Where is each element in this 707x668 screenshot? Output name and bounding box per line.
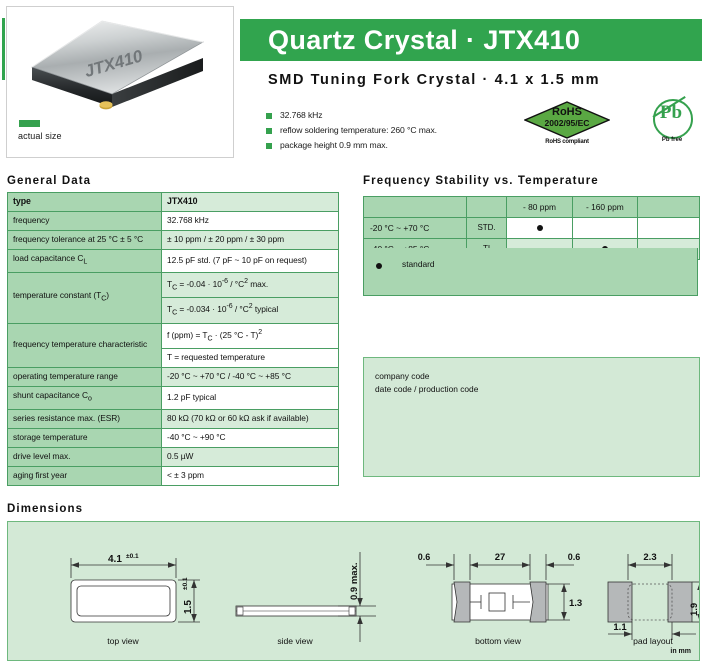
- left-accent-bar: [2, 18, 5, 80]
- product-photo-panel: JTX410 actual size: [6, 6, 234, 158]
- column-header-spare: [638, 197, 700, 218]
- row-key: frequency temperature characteristic: [8, 323, 162, 367]
- table-row: type JTX410: [8, 193, 339, 212]
- bullet-square-icon: [266, 143, 272, 149]
- datasheet-page: JTX410 actual size Quartz Crystal · JTX4…: [0, 0, 707, 668]
- row-key: shunt capacitance Co: [8, 387, 162, 410]
- general-data-heading: General Data: [7, 175, 91, 187]
- view-caption-top: top view: [68, 636, 178, 646]
- svg-text:1.5: 1.5: [183, 600, 194, 614]
- crystal-photo: JTX410: [7, 7, 235, 123]
- row-key: type: [8, 193, 162, 212]
- list-item: 32.768 kHz: [266, 110, 516, 123]
- rohs-line2: 2002/95/EC: [524, 118, 610, 128]
- general-data-table: type JTX410 frequency 32.768 kHz frequen…: [7, 192, 339, 486]
- svg-text:0.6: 0.6: [418, 552, 431, 562]
- row-value: < ± 3 ppm: [162, 466, 339, 485]
- marking-code-box: company code date code / production code: [363, 357, 700, 477]
- legend-dot-icon: [376, 263, 382, 269]
- actual-size-swatch: [19, 120, 40, 127]
- row-value: -20 °C ~ +70 °C / -40 °C ~ +85 °C: [162, 368, 339, 387]
- column-header-160ppm: - 160 ppm: [572, 197, 637, 218]
- mark-cell: [572, 218, 637, 239]
- table-row: - 80 ppm - 160 ppm: [364, 197, 700, 218]
- table-row: frequency temperature characteristic f (…: [8, 323, 339, 348]
- svg-text:1.1: 1.1: [613, 622, 627, 633]
- table-row: aging first year < ± 3 ppm: [8, 466, 339, 485]
- actual-size-caption: actual size: [18, 131, 62, 141]
- view-caption-pad: pad layout: [598, 636, 707, 646]
- row-key: temperature constant (TC): [8, 272, 162, 323]
- view-caption-side: side view: [240, 636, 350, 646]
- table-row: frequency 32.768 kHz: [8, 212, 339, 231]
- bullet-text: 32.768 kHz: [280, 110, 322, 120]
- svg-text:27: 27: [495, 552, 506, 563]
- row-value: -40 °C ~ +90 °C: [162, 428, 339, 447]
- standard-dot-icon: [537, 225, 543, 231]
- mark-cell: [638, 218, 700, 239]
- svg-text:4.1: 4.1: [108, 554, 122, 565]
- page-subtitle: SMD Tuning Fork Crystal · 4.1 x 1.5 mm: [268, 72, 600, 88]
- row-value: 0.5 µW: [162, 447, 339, 466]
- pb-free-logo: Pb Pb free: [648, 99, 696, 147]
- title-bar: Quartz Crystal · JTX410: [240, 19, 702, 61]
- svg-text:±0.1: ±0.1: [126, 553, 139, 560]
- row-value: ± 10 ppm / ± 20 ppm / ± 30 ppm: [162, 231, 339, 250]
- frequency-stability-legend: standard: [363, 248, 698, 296]
- date-code-label: date code / production code: [375, 384, 478, 394]
- svg-text:0.6: 0.6: [568, 552, 581, 562]
- row-value: T = requested temperature: [162, 349, 339, 368]
- row-value: TC = -0.034 · 10-6 / °C2 typical: [162, 298, 339, 323]
- rohs-line1: RoHS: [524, 106, 610, 118]
- bullet-text: reflow soldering temperature: 260 °C max…: [280, 125, 437, 135]
- svg-text:0.9 max.: 0.9 max.: [349, 563, 360, 601]
- dimensions-heading: Dimensions: [7, 503, 83, 515]
- list-item: reflow soldering temperature: 260 °C max…: [266, 125, 516, 138]
- table-row: operating temperature range -20 °C ~ +70…: [8, 368, 339, 387]
- feature-bullet-list: 32.768 kHz reflow soldering temperature:…: [266, 110, 516, 155]
- frequency-stability-heading: Frequency Stability vs. Temperature: [363, 175, 599, 187]
- row-key: frequency tolerance at 25 °C ± 5 °C: [8, 231, 162, 250]
- row-key: series resistance max. (ESR): [8, 409, 162, 428]
- mark-cell: [507, 218, 572, 239]
- company-code-label: company code: [375, 371, 429, 381]
- grade-label: STD.: [466, 218, 507, 239]
- row-value: 1.2 pF typical: [162, 387, 339, 410]
- row-key: operating temperature range: [8, 368, 162, 387]
- svg-text:1.9: 1.9: [689, 603, 699, 616]
- row-value: TC = -0.04 · 10-6 / °C2 max.: [162, 272, 339, 297]
- column-header-empty2: [466, 197, 507, 218]
- row-key: aging first year: [8, 466, 162, 485]
- table-row: storage temperature -40 °C ~ +90 °C: [8, 428, 339, 447]
- row-value: 80 kΩ (70 kΩ or 60 kΩ ask if available): [162, 409, 339, 428]
- bullet-square-icon: [266, 113, 272, 119]
- temp-range: -20 °C ~ +70 °C: [364, 218, 467, 239]
- row-key: frequency: [8, 212, 162, 231]
- pb-free-caption: Pb free: [646, 137, 698, 143]
- column-header-80ppm: - 80 ppm: [507, 197, 572, 218]
- table-row: shunt capacitance Co 1.2 pF typical: [8, 387, 339, 410]
- legend-label: standard: [402, 259, 435, 269]
- svg-text:±0.1: ±0.1: [182, 577, 189, 590]
- row-value: 12.5 pF std. (7 pF ~ 10 pF on request): [162, 250, 339, 273]
- bullet-square-icon: [266, 128, 272, 134]
- unit-note: in mm: [670, 648, 691, 655]
- svg-text:1.3: 1.3: [569, 598, 582, 609]
- dimensions-panel: 4.1 ±0.1 1.5 ±0.1: [7, 521, 700, 661]
- table-row: series resistance max. (ESR) 80 kΩ (70 k…: [8, 409, 339, 428]
- row-key: load capacitance CL: [8, 250, 162, 273]
- list-item: package height 0.9 mm max.: [266, 140, 516, 153]
- rohs-logo: RoHS 2002/95/EC RoHS compliant: [524, 101, 610, 145]
- svg-text:2.3: 2.3: [643, 552, 656, 563]
- row-key: storage temperature: [8, 428, 162, 447]
- row-value: JTX410: [162, 193, 339, 212]
- rohs-caption: RoHS compliant: [524, 139, 610, 145]
- table-row: load capacitance CL 12.5 pF std. (7 pF ~…: [8, 250, 339, 273]
- table-row: drive level max. 0.5 µW: [8, 447, 339, 466]
- bullet-text: package height 0.9 mm max.: [280, 140, 388, 150]
- table-row: frequency tolerance at 25 °C ± 5 °C ± 10…: [8, 231, 339, 250]
- view-caption-bottom: bottom view: [443, 636, 553, 646]
- column-header-empty: [364, 197, 467, 218]
- page-title: Quartz Crystal · JTX410: [268, 25, 580, 56]
- table-row: temperature constant (TC) TC = -0.04 · 1…: [8, 272, 339, 297]
- table-row: -20 °C ~ +70 °C STD.: [364, 218, 700, 239]
- row-value: 32.768 kHz: [162, 212, 339, 231]
- row-key: drive level max.: [8, 447, 162, 466]
- row-value: f (ppm) = TC · (25 °C - T)2: [162, 323, 339, 348]
